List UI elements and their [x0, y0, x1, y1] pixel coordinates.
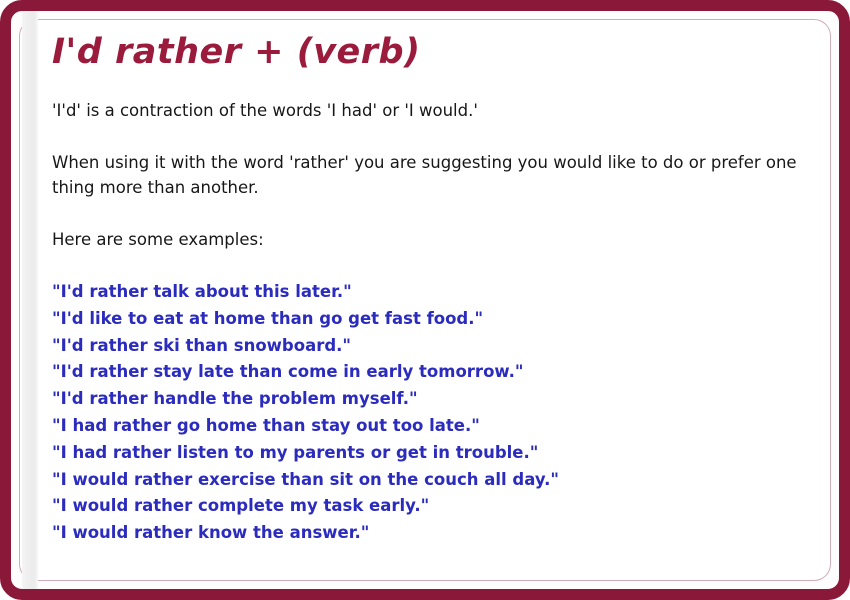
list-item: "I'd rather handle the problem myself." — [52, 386, 822, 413]
paragraph-contraction-definition: 'I'd' is a contraction of the words 'I h… — [52, 98, 812, 123]
list-item: "I'd rather stay late than come in early… — [52, 359, 822, 386]
lesson-content: I'd rather + (verb) 'I'd' is a contracti… — [52, 30, 822, 547]
paragraph-usage-explanation: When using it with the word 'rather' you… — [52, 150, 812, 200]
list-item: "I would rather know the answer." — [52, 520, 822, 547]
lesson-card-screenshot: I'd rather + (verb) 'I'd' is a contracti… — [0, 0, 850, 600]
list-item: "I would rather complete my task early." — [52, 493, 822, 520]
page-title: I'd rather + (verb) — [52, 30, 822, 74]
paragraph-examples-intro: Here are some examples: — [52, 227, 812, 252]
list-item: "I had rather go home than stay out too … — [52, 413, 822, 440]
list-item: "I'd like to eat at home than go get fas… — [52, 306, 822, 333]
example-sentence-list: "I'd rather talk about this later." "I'd… — [52, 279, 822, 547]
page-gutter-stripe — [22, 11, 38, 589]
list-item: "I would rather exercise than sit on the… — [52, 467, 822, 494]
list-item: "I had rather listen to my parents or ge… — [52, 440, 822, 467]
list-item: "I'd rather ski than snowboard." — [52, 333, 822, 360]
list-item: "I'd rather talk about this later." — [52, 279, 822, 306]
